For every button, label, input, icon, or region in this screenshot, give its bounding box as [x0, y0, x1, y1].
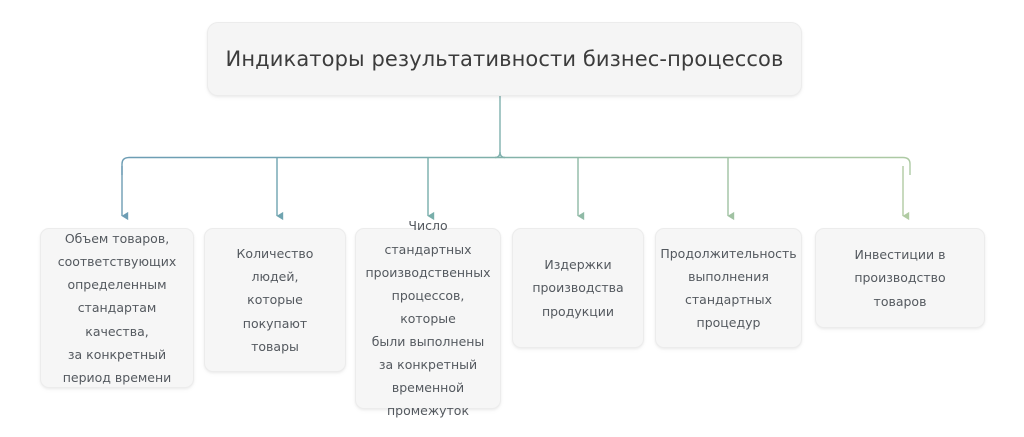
leaf-node-label-3: Число стандартных производственных проце…	[356, 204, 500, 432]
leaf-node-card-5[interactable]: Продолжительность выполнения стандартных…	[655, 228, 802, 348]
diagram-canvas: Индикаторы результативности бизнес-проце…	[0, 0, 1024, 437]
leaf-node-label-5: Продолжительность выполнения стандартных…	[651, 232, 805, 345]
leaf-node-card-1[interactable]: Объем товаров, соответствующих определен…	[40, 228, 194, 388]
leaf-node-label-1: Объем товаров, соответствующих определен…	[41, 217, 193, 399]
connector-root-stem-left	[495, 152, 500, 158]
leaf-node-card-6[interactable]: Инвестиции в производство товаров	[815, 228, 985, 328]
leaf-node-label-2: Количество людей, которые покупают товар…	[228, 232, 323, 368]
leaf-node-card-4[interactable]: Издержки производства продукции	[512, 228, 644, 348]
leaf-node-card-2[interactable]: Количество людей, которые покупают товар…	[204, 228, 346, 372]
connector-root-stem	[500, 96, 505, 158]
leaf-node-label-6: Инвестиции в производство товаров	[845, 233, 954, 322]
root-node-card[interactable]: Индикаторы результативности бизнес-проце…	[207, 22, 802, 96]
connector-bus	[122, 158, 910, 176]
root-node-label: Индикаторы результативности бизнес-проце…	[212, 46, 798, 72]
leaf-node-label-4: Издержки производства продукции	[523, 243, 632, 332]
leaf-node-card-3[interactable]: Число стандартных производственных проце…	[355, 228, 501, 409]
